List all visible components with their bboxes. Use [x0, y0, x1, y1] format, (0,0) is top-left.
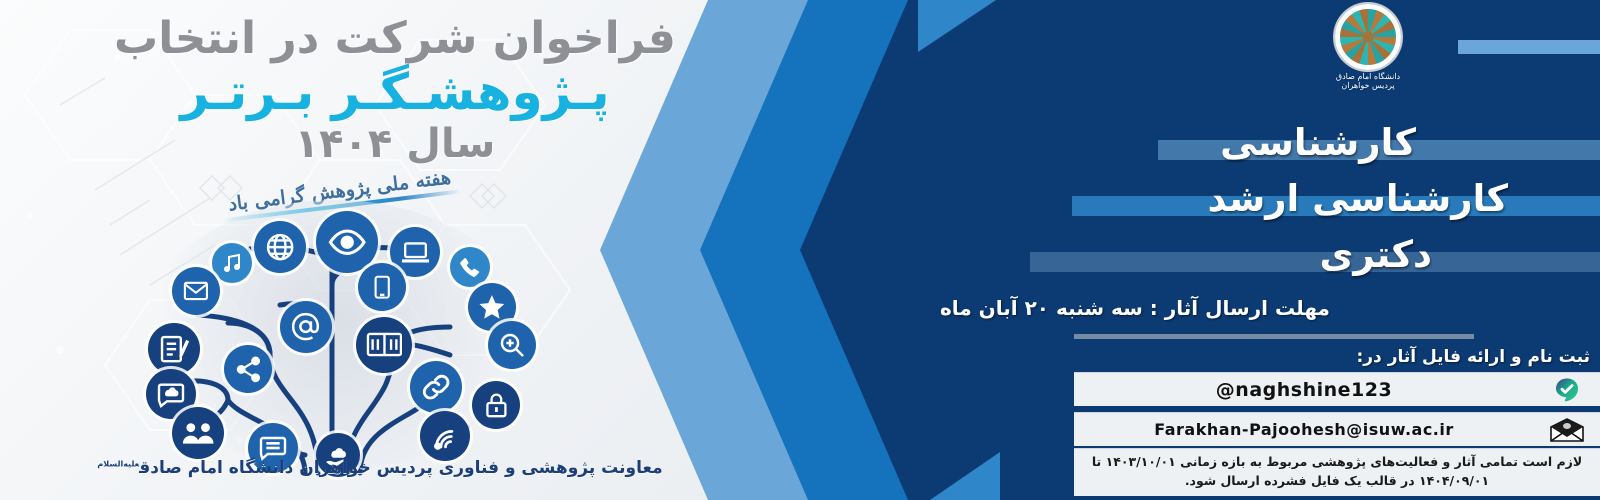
logo-caption-line-2: پردیس خواهران — [1320, 81, 1416, 90]
contact-row-email[interactable]: Farakhan-Pajoohesh@isuw.ac.ir — [1074, 412, 1600, 446]
degree-row-bachelor: کارشناسی — [940, 118, 1600, 174]
at-sign-icon — [280, 301, 332, 353]
accent-bar-top-right — [1458, 40, 1600, 54]
link-icon — [410, 361, 462, 413]
envelope-icon — [172, 267, 220, 315]
lock-icon — [472, 381, 520, 429]
degree-accent-bar — [1030, 252, 1600, 272]
registration-label: ثبت نام و ارائه فایل آثار در: — [940, 347, 1600, 367]
music-note-icon — [212, 243, 252, 283]
note-edit-icon — [148, 323, 200, 375]
title-line-2: پـژوهشـگـر بـرتـر — [70, 65, 720, 120]
eitaa-messenger-icon — [1534, 377, 1600, 403]
people-icon — [172, 407, 224, 459]
submission-note: لازم است تمامی آثار و فعالیت‌های پژوهشی … — [1074, 448, 1600, 496]
logo-caption: دانشگاه امام صادق پردیس خواهران — [1320, 72, 1416, 90]
email-address[interactable]: Farakhan-Pajoohesh@isuw.ac.ir — [1074, 420, 1534, 439]
footer-department: معاونت پژوهشی و فناوری پردیس خواهران دان… — [60, 458, 700, 478]
degree-label-bachelor: کارشناسی — [1220, 118, 1416, 168]
contact-row-eitaa[interactable]: @naghshine123 — [1074, 372, 1600, 406]
phone-icon — [450, 247, 490, 287]
title-line-3: سال ۱۴۰۴ — [70, 120, 720, 168]
degree-label-master: کارشناسی ارشد — [1207, 174, 1508, 224]
eye-icon — [316, 211, 378, 273]
submission-deadline: مهلت ارسال آثار : سه شنبه ۲۰ آبان ماه — [940, 296, 1600, 320]
share-icon — [224, 345, 272, 393]
degree-label-phd: دکتری — [1319, 230, 1432, 280]
book-icon — [356, 317, 412, 373]
tablet-icon — [358, 263, 406, 311]
title-line-1: فراخوان شرکت در انتخاب — [70, 14, 720, 65]
footer-honorific: علیه‌السلام — [97, 459, 139, 468]
search-plus-icon — [488, 321, 536, 369]
logo-caption-line-1: دانشگاه امام صادق — [1320, 72, 1416, 81]
logo-mandala-icon — [1335, 4, 1401, 70]
envelope-icon — [1534, 418, 1600, 442]
footer-department-text: معاونت پژوهشی و فناوری پردیس خواهران دان… — [139, 458, 663, 478]
eitaa-handle[interactable]: @naghshine123 — [1074, 379, 1534, 401]
globe-icon — [254, 221, 306, 273]
section-divider — [1074, 334, 1474, 339]
page-title: فراخوان شرکت در انتخاب پـژوهشـگـر بـرتـر… — [70, 14, 720, 168]
research-call-banner: فراخوان شرکت در انتخاب پـژوهشـگـر بـرتـر… — [0, 0, 1600, 500]
wifi-icon — [420, 411, 470, 461]
degree-levels-list: کارشناسی کارشناسی ارشد دکتری — [940, 118, 1600, 286]
university-logo: دانشگاه امام صادق پردیس خواهران — [1320, 4, 1416, 100]
research-network-tree — [120, 205, 550, 480]
degree-row-master: کارشناسی ارشد — [940, 174, 1600, 230]
degree-row-phd: دکتری — [940, 230, 1600, 286]
